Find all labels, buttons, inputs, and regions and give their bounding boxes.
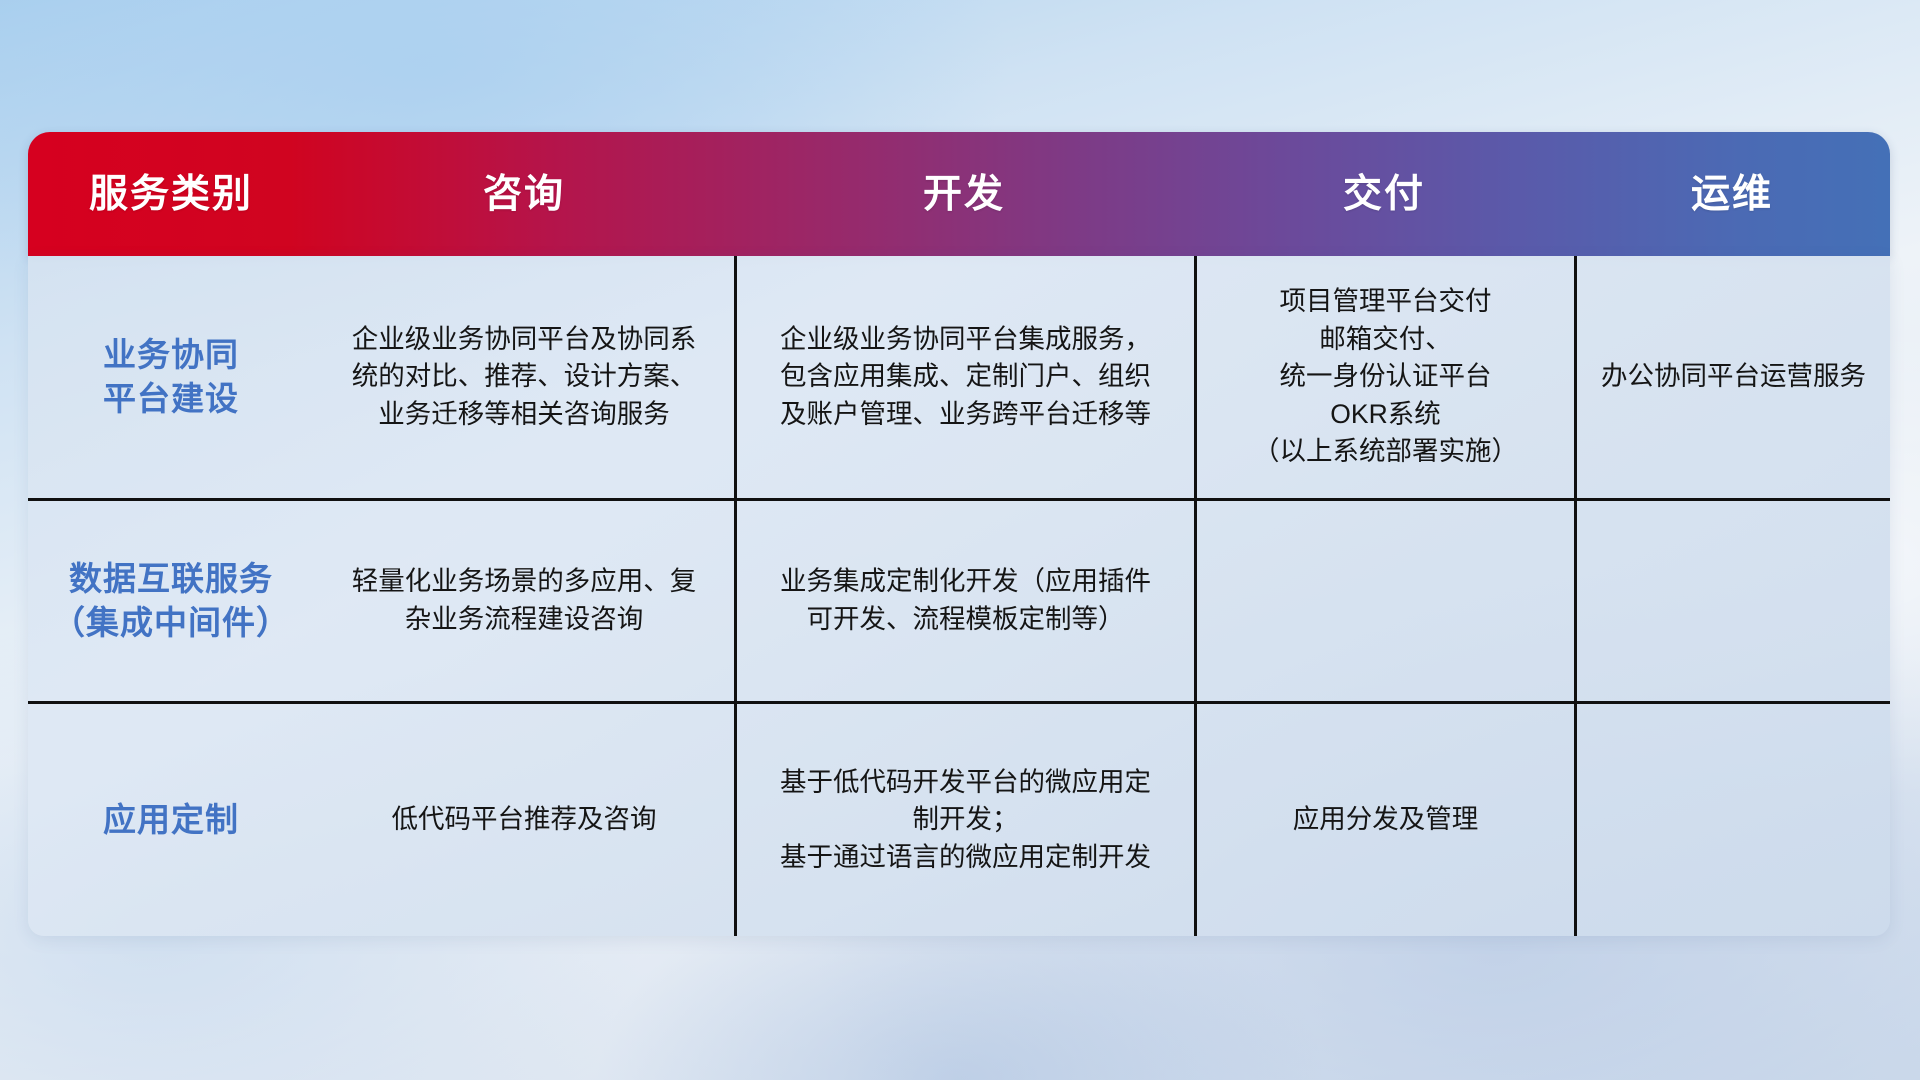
column-header-operations: 运维 xyxy=(1574,175,1890,214)
cell-consulting: 企业级业务协同平台及协同系 统的对比、推荐、设计方案、 业务迁移等相关咨询服务 xyxy=(314,256,734,498)
column-header-consulting: 咨询 xyxy=(314,175,734,214)
cell-operations xyxy=(1574,704,1890,936)
cell-delivery: 应用分发及管理 xyxy=(1194,704,1574,936)
table-row: 业务协同 平台建设 企业级业务协同平台及协同系 统的对比、推荐、设计方案、 业务… xyxy=(28,256,1890,498)
cell-development: 企业级业务协同平台集成服务， 包含应用集成、定制门户、组织 及账户管理、业务跨平… xyxy=(734,256,1194,498)
table-row: 数据互联服务 （集成中间件） 轻量化业务场景的多应用、复 杂业务流程建设咨询 业… xyxy=(28,498,1890,701)
row-header-category: 应用定制 xyxy=(28,704,314,936)
table-row: 应用定制 低代码平台推荐及咨询 基于低代码开发平台的微应用定 制开发； 基于通过… xyxy=(28,701,1890,936)
table-body: 业务协同 平台建设 企业级业务协同平台及协同系 统的对比、推荐、设计方案、 业务… xyxy=(28,256,1890,936)
cell-consulting: 低代码平台推荐及咨询 xyxy=(314,704,734,936)
service-matrix-table: 服务类别 咨询 开发 交付 运维 业务协同 平台建设 企业级业务协同平台及协同系… xyxy=(28,132,1890,936)
table-header-row: 服务类别 咨询 开发 交付 运维 xyxy=(28,132,1890,256)
column-header-delivery: 交付 xyxy=(1194,175,1574,214)
row-header-category: 业务协同 平台建设 xyxy=(28,256,314,498)
cell-development: 基于低代码开发平台的微应用定 制开发； 基于通过语言的微应用定制开发 xyxy=(734,704,1194,936)
column-header-category: 服务类别 xyxy=(28,175,314,214)
cell-operations: 办公协同平台运营服务 xyxy=(1574,256,1890,498)
cell-consulting: 轻量化业务场景的多应用、复 杂业务流程建设咨询 xyxy=(314,501,734,701)
cell-delivery xyxy=(1194,501,1574,701)
column-header-development: 开发 xyxy=(734,175,1194,214)
row-header-category: 数据互联服务 （集成中间件） xyxy=(28,501,314,701)
cell-development: 业务集成定制化开发（应用插件 可开发、流程模板定制等） xyxy=(734,501,1194,701)
cell-delivery: 项目管理平台交付 邮箱交付、 统一身份认证平台 OKR系统 （以上系统部署实施） xyxy=(1194,256,1574,498)
cell-operations xyxy=(1574,501,1890,701)
